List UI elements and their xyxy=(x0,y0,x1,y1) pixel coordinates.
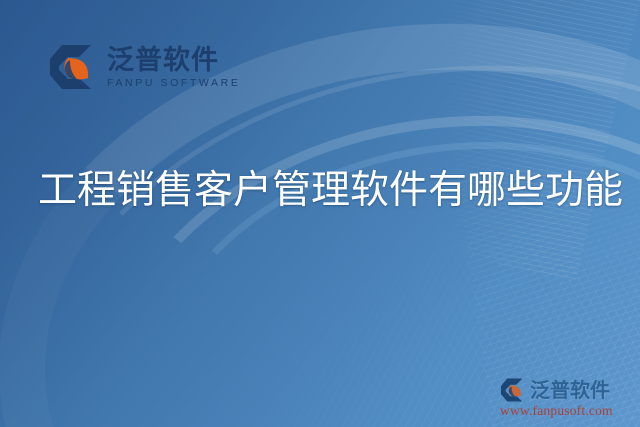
watermark: 泛普软件 www.fanpusoft.com xyxy=(500,377,632,419)
brand-name-cn: 泛普软件 xyxy=(107,47,240,75)
fanpu-hexagon-logo-icon xyxy=(48,42,98,92)
brand-logo: 泛普软件 FANPU SOFTWARE xyxy=(48,42,240,92)
curved-facade-band-2 xyxy=(74,81,640,427)
watermark-logo-row: 泛普软件 xyxy=(500,377,632,403)
promo-banner: 泛普软件 FANPU SOFTWARE 工程销售客户管理软件有哪些功能 泛普软件… xyxy=(0,0,640,427)
page-title: 工程销售客户管理软件有哪些功能 xyxy=(38,168,613,214)
watermark-name-cn: 泛普软件 xyxy=(530,380,610,400)
building-tower-secondary-shape xyxy=(447,78,640,427)
watermark-url: www.fanpusoft.com xyxy=(500,404,632,419)
brand-wordmark: 泛普软件 FANPU SOFTWARE xyxy=(107,45,240,90)
fanpu-hexagon-logo-icon xyxy=(500,377,526,403)
brand-name-en: FANPU SOFTWARE xyxy=(107,78,240,90)
building-tower-shape xyxy=(332,0,640,282)
